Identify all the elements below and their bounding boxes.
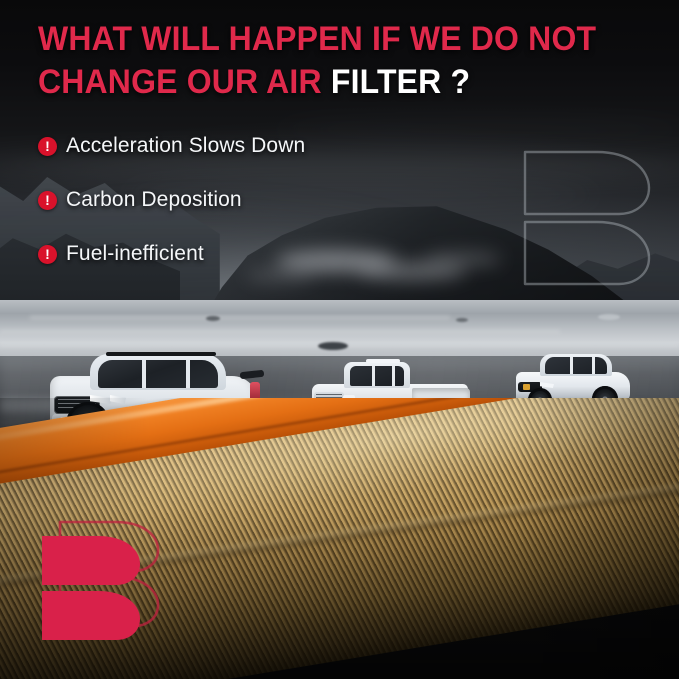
exclamation-circle-icon: ! bbox=[38, 245, 57, 264]
truck-b-pillar bbox=[372, 366, 375, 386]
suv2-window-glass bbox=[545, 357, 607, 374]
exclamation-circle-icon: ! bbox=[38, 137, 57, 156]
poster-canvas: WHAT WILL HAPPEN IF WE DO NOT CHANGE OUR… bbox=[0, 0, 679, 679]
brand-logo-lower-lobe bbox=[42, 591, 140, 640]
suv2-c-pillar bbox=[592, 357, 595, 374]
list-item: ! Acceleration Slows Down bbox=[38, 134, 305, 158]
exclamation-glyph: ! bbox=[45, 247, 50, 261]
brand-logo-mark bbox=[38, 532, 156, 644]
logo-upper-lobe bbox=[525, 152, 649, 214]
list-item-label: Acceleration Slows Down bbox=[66, 134, 305, 158]
consequences-list: ! Acceleration Slows Down ! Carbon Depos… bbox=[38, 134, 305, 296]
shore-rock-4 bbox=[598, 314, 620, 320]
list-item-label: Carbon Deposition bbox=[66, 188, 242, 212]
suv2-b-pillar bbox=[570, 357, 573, 374]
suv-roof-spoiler bbox=[240, 370, 265, 379]
brand-logo-upper-lobe bbox=[42, 536, 140, 585]
brand-logo-outline-watermark bbox=[519, 146, 669, 291]
truck-window-glass bbox=[350, 366, 404, 386]
suv2-brand-badge bbox=[523, 384, 530, 390]
logo-lower-lobe bbox=[525, 222, 649, 284]
cloud-band-upper bbox=[272, 120, 679, 140]
headline-line-2-white-text: FILTER ? bbox=[331, 63, 470, 101]
truck-roof-marker-lights bbox=[366, 359, 400, 363]
headline-line-2: CHANGE OUR AIR FILTER ? bbox=[38, 61, 602, 104]
list-item: ! Fuel-inefficient bbox=[38, 242, 305, 266]
truck-c-pillar bbox=[392, 366, 395, 386]
page-title: WHAT WILL HAPPEN IF WE DO NOT CHANGE OUR… bbox=[38, 18, 602, 104]
plain-streak-1 bbox=[30, 316, 450, 319]
list-item-label: Fuel-inefficient bbox=[66, 242, 204, 266]
suv-b-pillar bbox=[142, 360, 146, 388]
shore-rock-3 bbox=[456, 318, 468, 322]
exclamation-circle-icon: ! bbox=[38, 191, 57, 210]
shore-rock-2 bbox=[206, 316, 220, 321]
exclamation-glyph: ! bbox=[45, 139, 50, 153]
headline-line-2-red-text: CHANGE OUR AIR bbox=[38, 63, 322, 101]
headline-line-1-text: WHAT WILL HAPPEN IF WE DO NOT bbox=[38, 20, 596, 58]
plain-streak-2 bbox=[0, 330, 560, 333]
headline-line-1: WHAT WILL HAPPEN IF WE DO NOT bbox=[38, 18, 602, 61]
mountain-mist-3 bbox=[424, 252, 502, 266]
suv-roof-rail bbox=[106, 352, 216, 356]
list-item: ! Carbon Deposition bbox=[38, 188, 305, 212]
suv-window-glass bbox=[98, 360, 218, 388]
suv-c-pillar bbox=[186, 360, 190, 388]
exclamation-glyph: ! bbox=[45, 193, 50, 207]
